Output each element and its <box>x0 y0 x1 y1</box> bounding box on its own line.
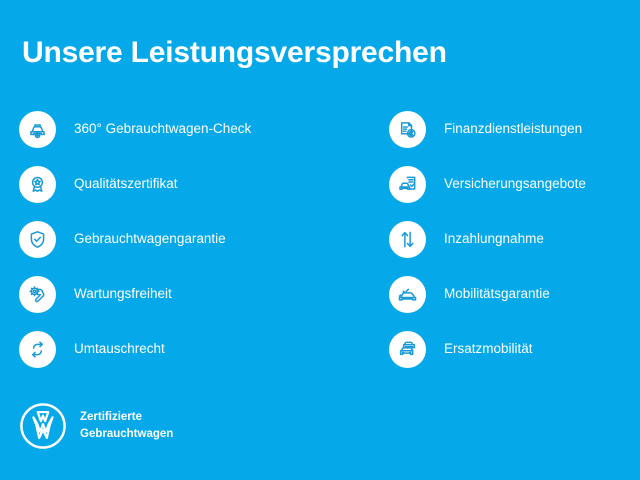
benefit-label: Gebrauchtwagengarantie <box>74 231 226 247</box>
car-check-icon <box>389 276 426 313</box>
brand-line-1: Zertifizierte <box>80 409 173 426</box>
benefit-label: Umtauschrecht <box>74 341 165 357</box>
page-title: Unsere Leistungsversprechen <box>22 36 447 69</box>
benefit-item-inzahlungnahme[interactable]: Inzahlungnahme <box>389 221 640 258</box>
benefits-column-left: 360° Gebrauchtwagen-Check Qualitätszerti… <box>19 111 319 386</box>
two-cars-icon <box>389 331 426 368</box>
car-checklist-icon <box>389 166 426 203</box>
benefit-item-finanzdienstleistungen[interactable]: Finanzdienstleistungen <box>389 111 640 148</box>
brand-text: Zertifizierte Gebrauchtwagen <box>80 409 173 442</box>
benefit-label: 360° Gebrauchtwagen-Check <box>74 121 251 137</box>
volkswagen-logo-icon <box>19 402 67 450</box>
benefits-column-right: Finanzdienstleistungen Versicherungsange… <box>389 111 640 386</box>
benefit-item-ersatzmobilitaet[interactable]: Ersatzmobilität <box>389 331 640 368</box>
exchange-arrows-icon <box>19 331 56 368</box>
benefit-item-gebrauchtwagen-check[interactable]: 360° Gebrauchtwagen-Check <box>19 111 319 148</box>
quality-medal-icon <box>19 166 56 203</box>
benefit-item-versicherungsangebote[interactable]: Versicherungsangebote <box>389 166 640 203</box>
benefit-label: Finanzdienstleistungen <box>444 121 582 137</box>
benefit-label: Versicherungsangebote <box>444 176 586 192</box>
shield-check-icon <box>19 221 56 258</box>
benefit-item-qualitaetszertifikat[interactable]: Qualitätszertifikat <box>19 166 319 203</box>
benefit-item-gebrauchtwagengarantie[interactable]: Gebrauchtwagengarantie <box>19 221 319 258</box>
benefit-label: Ersatzmobilität <box>444 341 533 357</box>
benefit-item-wartungsfreiheit[interactable]: Wartungsfreiheit <box>19 276 319 313</box>
benefit-label: Qualitätszertifikat <box>74 176 178 192</box>
benefit-item-mobilitaetsgarantie[interactable]: Mobilitätsgarantie <box>389 276 640 313</box>
benefit-label: Mobilitätsgarantie <box>444 286 550 302</box>
brand-lockup: Zertifizierte Gebrauchtwagen <box>19 402 173 450</box>
benefit-label: Wartungsfreiheit <box>74 286 172 302</box>
brand-line-2: Gebrauchtwagen <box>80 426 173 443</box>
document-euro-icon <box>389 111 426 148</box>
wrench-gear-icon <box>19 276 56 313</box>
car-inspection-icon <box>19 111 56 148</box>
benefit-item-umtauschrecht[interactable]: Umtauschrecht <box>19 331 319 368</box>
benefit-label: Inzahlungnahme <box>444 231 544 247</box>
up-down-arrows-icon <box>389 221 426 258</box>
slide-canvas: Unsere Leistungsversprechen 360° Gebrauc… <box>0 0 640 480</box>
